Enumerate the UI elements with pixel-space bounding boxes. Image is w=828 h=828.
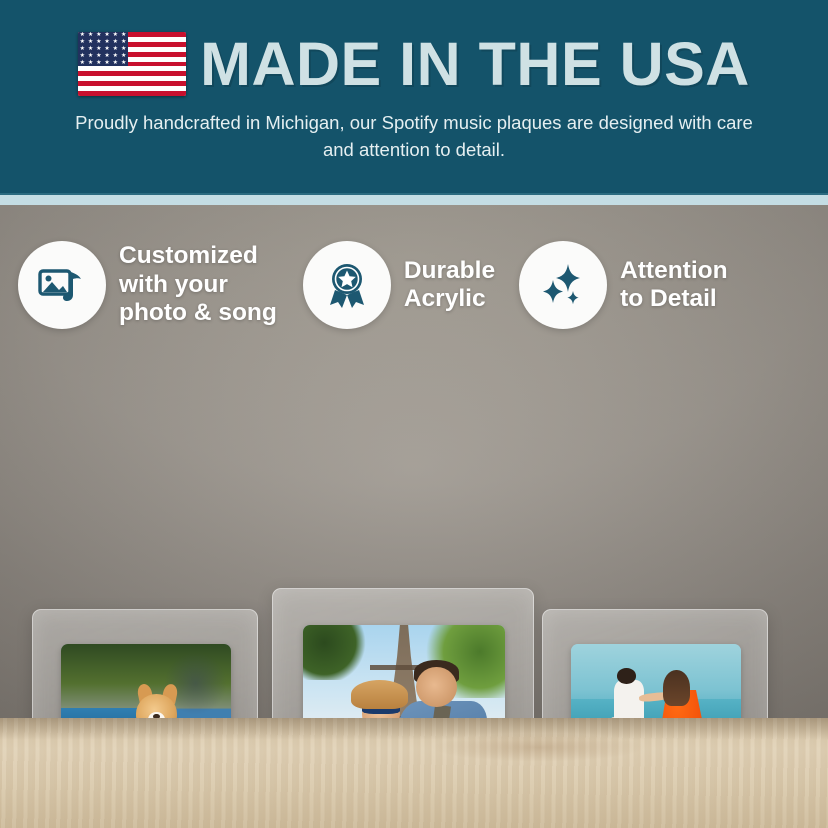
desk-grain-knot <box>431 733 646 762</box>
feature-item-customized: Customized with your photo & song <box>18 241 277 329</box>
page-title: MADE IN THE USA <box>200 34 750 95</box>
feature-item-attention: Attention to Detail <box>519 241 728 329</box>
header-divider-band <box>0 193 828 205</box>
feature-label-line3: photo & song <box>119 299 277 327</box>
feature-label-line2: Acrylic <box>404 285 495 313</box>
product-infographic: ★★★★★★ ★★★★★★ ★★★★★★ ★★★★★★ ★★★★★★ MADE … <box>0 0 828 828</box>
award-badge-icon <box>303 241 391 329</box>
feature-list: Customized with your photo & song <box>0 241 828 329</box>
product-scene: Customized with your photo & song <box>0 205 828 828</box>
feature-item-durable: Durable Acrylic <box>303 241 495 329</box>
photo-music-icon <box>18 241 106 329</box>
sparkles-icon <box>519 241 607 329</box>
feature-label-line2: with your <box>119 271 277 299</box>
header-subtitle: Proudly handcrafted in Michigan, our Spo… <box>64 110 764 164</box>
usa-flag-icon: ★★★★★★ ★★★★★★ ★★★★★★ ★★★★★★ ★★★★★★ <box>78 32 186 96</box>
feature-label-line1: Attention <box>620 257 728 285</box>
feature-label-durable: Durable Acrylic <box>404 257 495 314</box>
header-title-row: ★★★★★★ ★★★★★★ ★★★★★★ ★★★★★★ ★★★★★★ MADE … <box>0 0 828 96</box>
desk-shadow <box>0 718 828 740</box>
feature-label-line2: to Detail <box>620 285 728 313</box>
header-banner: ★★★★★★ ★★★★★★ ★★★★★★ ★★★★★★ ★★★★★★ MADE … <box>0 0 828 193</box>
feature-label-line1: Durable <box>404 257 495 285</box>
feature-label-line1: Customized <box>119 242 277 270</box>
wooden-desk-surface <box>0 718 828 828</box>
feature-label-attention: Attention to Detail <box>620 257 728 314</box>
feature-label-customized: Customized with your photo & song <box>119 242 277 327</box>
